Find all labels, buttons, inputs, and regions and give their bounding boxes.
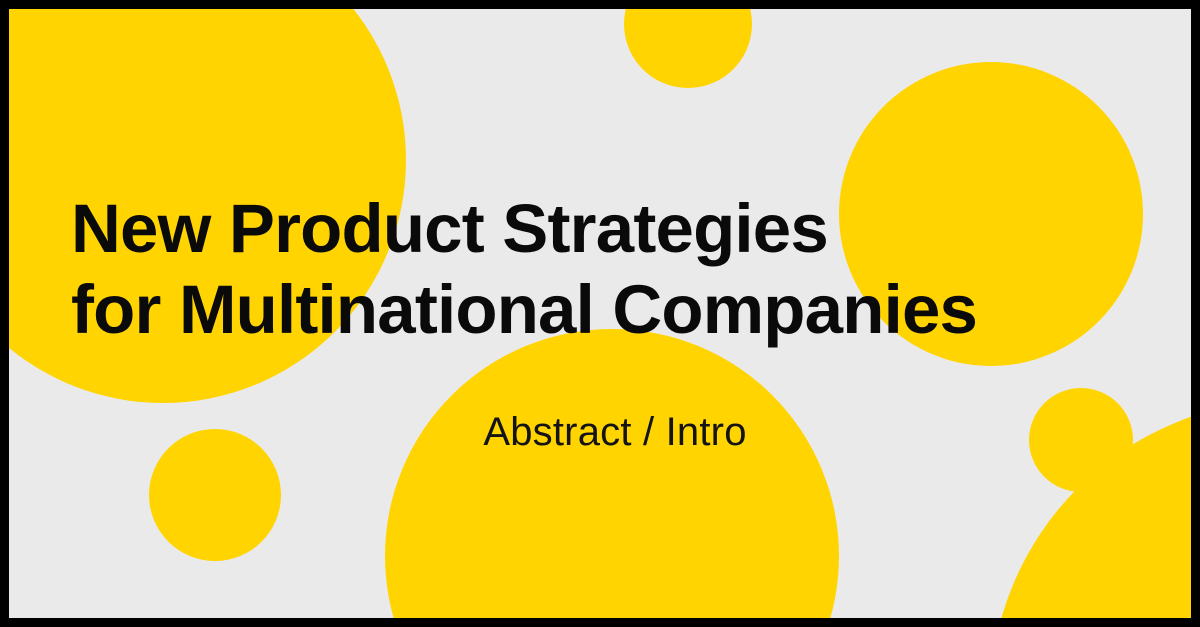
subtitle-block: Abstract / Intro bbox=[9, 407, 1191, 457]
slide-frame: New Product Strategies for Multinational… bbox=[0, 0, 1200, 627]
slide-content: New Product Strategies for Multinational… bbox=[9, 9, 1191, 618]
slide-title: New Product Strategies for Multinational… bbox=[71, 189, 1141, 350]
slide-subtitle: Abstract / Intro bbox=[483, 407, 746, 457]
title-block: New Product Strategies for Multinational… bbox=[71, 189, 1141, 350]
slide-canvas: New Product Strategies for Multinational… bbox=[9, 9, 1191, 618]
